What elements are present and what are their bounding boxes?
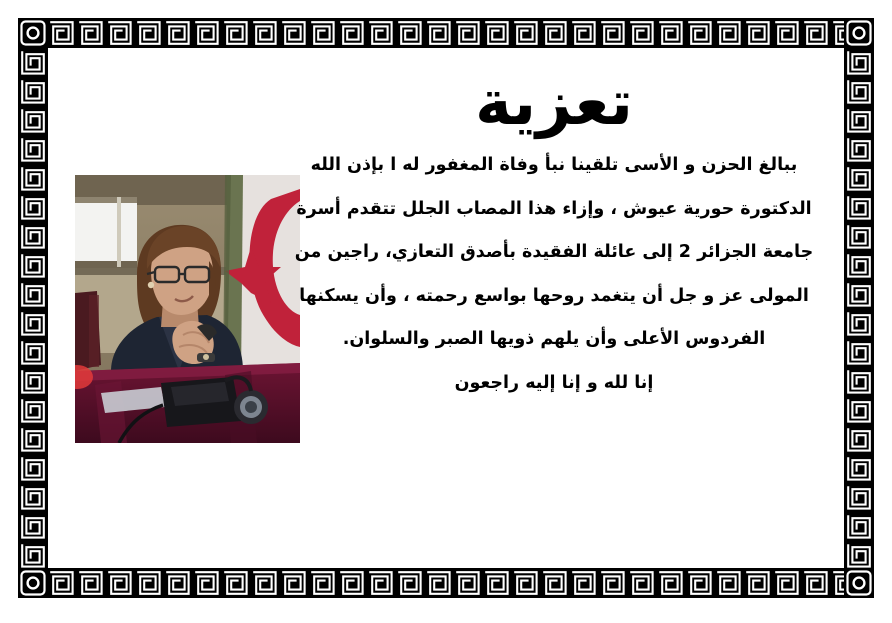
border-band-bottom bbox=[18, 568, 874, 598]
border-corner-top-right bbox=[844, 18, 874, 48]
notice-line: المولى عز و جل أن يتغمد روحها بواسع رحمت… bbox=[280, 288, 828, 306]
border-corner-bottom-left bbox=[18, 568, 48, 598]
border-corner-top-left bbox=[18, 18, 48, 48]
deceased-photo bbox=[75, 175, 300, 443]
border-band-left bbox=[18, 48, 48, 568]
poster-content: تعزية ببالغ الحزن و الأسى تلقينا نبأ وفا… bbox=[48, 48, 844, 568]
notice-body: ببالغ الحزن و الأسى تلقينا نبأ وفاة المغ… bbox=[280, 157, 828, 392]
notice-closing: إنا لله و إنا إليه راجعون bbox=[280, 375, 828, 393]
border-band-right bbox=[844, 48, 874, 568]
notice-title: تعزية bbox=[280, 70, 828, 135]
border-corner-bottom-right bbox=[844, 568, 874, 598]
border-band-top bbox=[18, 18, 874, 48]
condolence-poster: تعزية ببالغ الحزن و الأسى تلقينا نبأ وفا… bbox=[0, 0, 892, 623]
notice-text-block: تعزية ببالغ الحزن و الأسى تلقينا نبأ وفا… bbox=[280, 70, 828, 392]
notice-line: الدكتورة حورية عيوش ، وإزاء هذا المصاب ا… bbox=[280, 201, 828, 219]
notice-line: جامعة الجزائر 2 إلى عائلة الفقيدة بأصدق … bbox=[280, 244, 828, 262]
notice-line: ببالغ الحزن و الأسى تلقينا نبأ وفاة المغ… bbox=[280, 157, 828, 175]
notice-line: الفردوس الأعلى وأن يلهم ذويها الصبر والس… bbox=[280, 331, 828, 349]
